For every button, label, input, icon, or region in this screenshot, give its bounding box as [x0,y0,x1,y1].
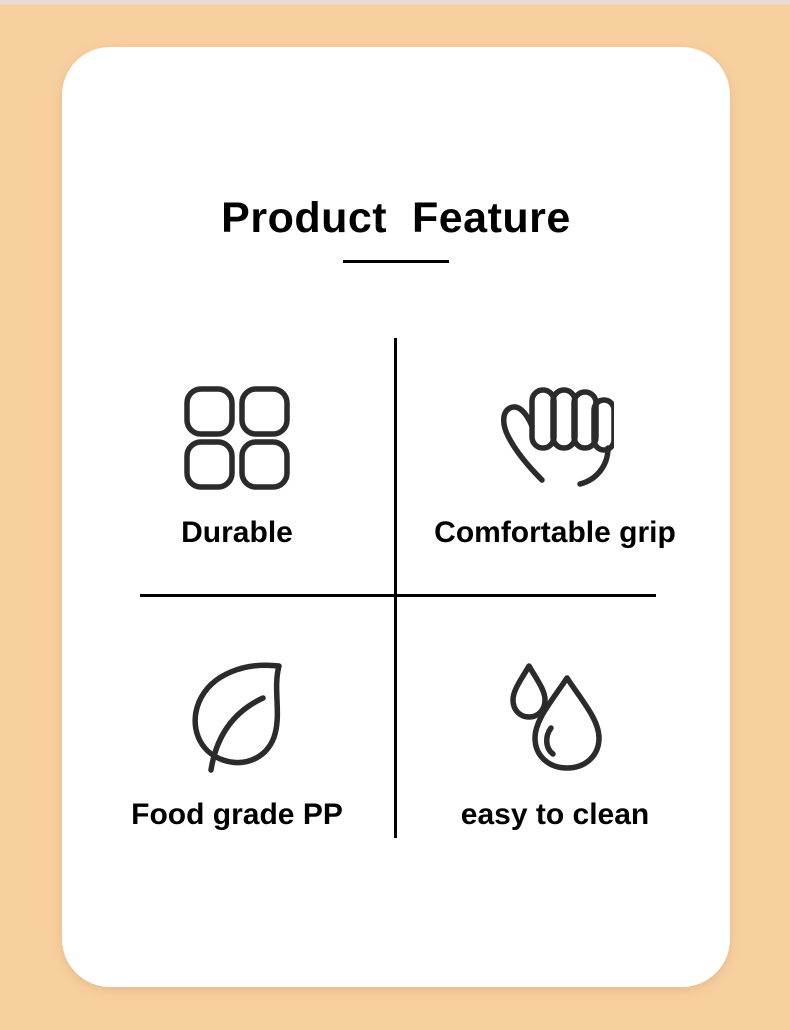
top-seam-strip [0,0,790,5]
feature-item-food-grade-pp: Food grade PP [78,613,396,888]
horizontal-divider [140,594,656,597]
header: Product Feature [62,197,730,263]
feature-item-comfortable-grip: Comfortable grip [396,338,714,613]
product-feature-card: Product Feature Durable [62,47,730,987]
leaf-icon [78,657,396,777]
page-title: Product Feature [62,197,730,240]
feature-label-easy-to-clean: easy to clean [396,798,714,831]
feature-item-durable: Durable [78,338,396,613]
feature-label-food-grade-pp: Food grade PP [78,798,396,831]
title-underline [343,260,449,263]
water-droplet-icon [396,657,714,777]
grid-four-squares-icon [78,378,396,498]
vertical-divider [394,338,397,838]
fist-grip-hand-icon [396,378,714,498]
feature-item-easy-to-clean: easy to clean [396,613,714,888]
feature-label-durable: Durable [78,516,396,549]
feature-label-comfortable-grip: Comfortable grip [396,516,714,549]
